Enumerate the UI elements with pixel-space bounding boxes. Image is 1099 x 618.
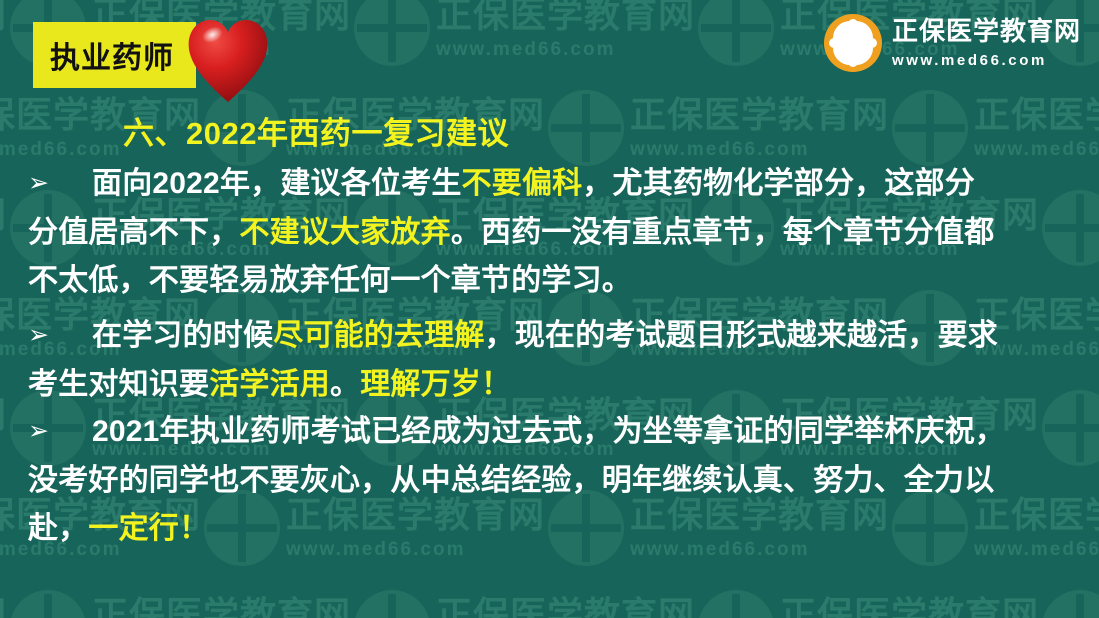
brand-url: www.med66.com	[892, 53, 1081, 68]
exam-category-label: 执业药师	[50, 33, 174, 77]
body-text: ，尤其药物化学部分，这部分	[582, 167, 975, 200]
logo-cross-horizontal	[829, 38, 877, 48]
bullet-paragraph-2: ➢在学习的时候尽可能的去理解，现在的考试题目形式越来越活，要求考生对知识要活学活…	[28, 312, 1088, 409]
bullet-arrow-icon: ➢	[28, 311, 56, 359]
bullet-arrow-icon: ➢	[28, 407, 56, 455]
bullet-paragraph-1: ➢面向2022年，建议各位考生不要偏科，尤其药物化学部分，这部分分值居高不下，不…	[28, 160, 1088, 305]
body-text: 在学习的时候	[92, 319, 273, 352]
brand-logo-text: 正保医学教育网 www.med66.com	[892, 18, 1081, 68]
highlighted-text: 不建议大家放弃	[239, 216, 450, 249]
paragraph-line: ➢在学习的时候尽可能的去理解，现在的考试题目形式越来越活，要求	[28, 312, 1088, 361]
body-text: 不太低，不要轻易放弃任何一个章节的学习。	[28, 264, 632, 297]
brand-logo: 正保医学教育网 www.med66.com	[824, 14, 1081, 72]
highlighted-text: 尽可能的去理解	[273, 319, 484, 352]
circle-cross-logo-icon	[824, 14, 882, 72]
paragraph-line: 分值居高不下，不建议大家放弃。西药一没有重点章节，每个章节分值都	[28, 209, 1088, 257]
highlighted-text: 理解万岁！	[360, 368, 511, 401]
body-text: 。西药一没有重点章节，每个章节分值都	[451, 216, 995, 249]
logo-petal-bottom-right	[856, 48, 873, 65]
paragraph-line: ➢2021年执业药师考试已经成为过去式，为坐等拿证的同学举杯庆祝，	[28, 408, 1088, 457]
body-text: 面向2022年，建议各位考生	[92, 167, 462, 200]
bullet-arrow-icon: ➢	[28, 159, 56, 207]
presentation-slide: 正保医学教育网www.med66.com正保医学教育网www.med66.com…	[0, 0, 1099, 618]
logo-petal-top-right	[856, 21, 873, 38]
brand-name: 正保医学教育网	[892, 18, 1081, 44]
bullet-paragraph-3: ➢2021年执业药师考试已经成为过去式，为坐等拿证的同学举杯庆祝，没考好的同学也…	[28, 408, 1088, 553]
highlighted-text: 不要偏科	[462, 167, 583, 200]
body-text: 2021年执业药师考试已经成为过去式，为坐等拿证的同学举杯庆祝，	[92, 415, 1005, 448]
paragraph-line: 赴，一定行！	[28, 505, 1088, 553]
paragraph-line: 考生对知识要活学活用。理解万岁！	[28, 361, 1088, 409]
exam-category-banner: 执业药师	[33, 22, 196, 88]
body-text: 没考好的同学也不要灰心，从中总结经验，明年继续认真、努力、全力以	[28, 464, 994, 497]
page-title: 六、2022年西药一复习建议	[123, 108, 509, 153]
highlighted-text: 活学活用	[209, 368, 330, 401]
red-heart-icon	[187, 18, 269, 104]
body-text: 考生对知识要	[28, 368, 209, 401]
body-text: 。	[330, 368, 360, 401]
slide-content: 六、2022年西药一复习建议 ➢面向2022年，建议各位考生不要偏科，尤其药物化…	[0, 0, 1099, 618]
body-text: ，现在的考试题目形式越来越活，要求	[485, 319, 998, 352]
paragraph-line: 没考好的同学也不要灰心，从中总结经验，明年继续认真、努力、全力以	[28, 457, 1088, 505]
body-text: 分值居高不下，	[28, 216, 239, 249]
body-text: 赴，	[28, 512, 88, 545]
highlighted-text: 一定行！	[88, 512, 209, 545]
paragraph-line: ➢面向2022年，建议各位考生不要偏科，尤其药物化学部分，这部分	[28, 160, 1088, 209]
paragraph-line: 不太低，不要轻易放弃任何一个章节的学习。	[28, 257, 1088, 305]
